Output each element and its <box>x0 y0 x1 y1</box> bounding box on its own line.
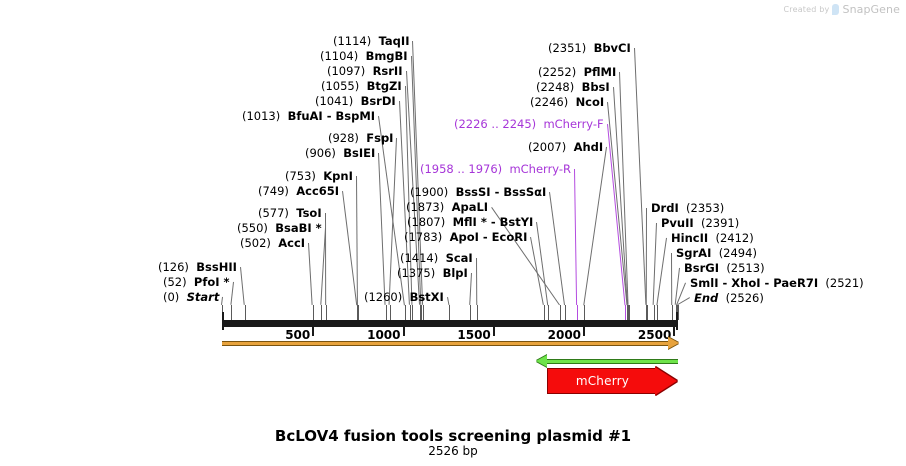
enzyme-label-start[interactable]: (0) Start <box>163 291 219 304</box>
axis-tick-mark <box>312 327 314 336</box>
enzyme-leader-line <box>230 282 234 305</box>
plasmid-size: 2526 bp <box>0 444 906 458</box>
axis-tick-label: 500 <box>285 328 310 342</box>
primer-site-tick[interactable] <box>625 305 626 320</box>
enzyme-name: TaqII <box>379 34 410 48</box>
restriction-site-tick[interactable] <box>449 305 450 320</box>
restriction-site-tick[interactable] <box>629 305 630 320</box>
enzyme-name: ApoI - EcoRI <box>450 230 528 244</box>
enzyme-name: AccI <box>278 236 305 250</box>
feature-arrow-backbone[interactable] <box>222 341 668 346</box>
axis-tick-mark <box>493 327 495 336</box>
enzyme-label-btgzi[interactable]: (1055) BtgZI <box>321 80 402 93</box>
enzyme-label-ahdi[interactable]: (2007) AhdI <box>528 141 603 154</box>
enzyme-label-acci[interactable]: (502) AccI <box>240 237 305 250</box>
enzyme-name: TsoI <box>296 206 321 220</box>
enzyme-name: BsrGI <box>684 261 719 275</box>
enzyme-name: BssSI - BssSαI <box>456 185 547 199</box>
restriction-site-tick[interactable] <box>560 305 561 320</box>
axis-tick-label: 2500 <box>638 328 671 342</box>
enzyme-label-rsrii[interactable]: (1097) RsrII <box>327 65 403 78</box>
enzyme-label-ncoi[interactable]: (2246) NcoI <box>530 96 604 109</box>
enzyme-name: Acc65I <box>296 184 339 198</box>
enzyme-name: BsaBI * <box>275 221 321 235</box>
enzyme-position: (2526) <box>726 291 764 305</box>
enzyme-leader-line <box>240 267 245 305</box>
enzyme-position: (1097) <box>327 64 365 78</box>
enzyme-position: (52) <box>163 275 187 289</box>
enzyme-leader-line <box>447 297 449 305</box>
enzyme-label-sgrai[interactable]: SgrAI (2494) <box>676 247 757 260</box>
enzyme-position: (550) <box>237 221 268 235</box>
enzyme-name: BlpI <box>443 266 468 280</box>
enzyme-name: Start <box>187 290 220 304</box>
enzyme-position: (1414) <box>400 251 438 265</box>
enzyme-leader-line <box>476 258 477 305</box>
page-title: BcLOV4 fusion tools screening plasmid #1 <box>0 427 906 445</box>
restriction-site-tick[interactable] <box>412 305 413 320</box>
enzyme-position: (906) <box>305 146 336 160</box>
restriction-site-tick[interactable] <box>477 305 478 320</box>
restriction-site-tick[interactable] <box>358 305 359 320</box>
enzyme-position: (1055) <box>321 79 359 93</box>
enzyme-position: (2494) <box>719 246 757 260</box>
enzyme-name: HincII <box>671 231 708 245</box>
restriction-site-tick[interactable] <box>410 305 411 320</box>
enzyme-position: (1114) <box>333 34 371 48</box>
enzyme-leader-line <box>653 223 657 305</box>
enzyme-name: BssHII <box>196 260 237 274</box>
snapgene-logo-icon <box>832 4 839 15</box>
primer-site-tick[interactable] <box>577 305 578 320</box>
enzyme-label-drdi[interactable]: DrdI (2353) <box>651 202 724 215</box>
restriction-site-tick[interactable] <box>654 305 655 320</box>
enzyme-name: PfoI * <box>194 275 230 289</box>
enzyme-position: (1900) <box>410 185 448 199</box>
enzyme-label-bsshii[interactable]: (126) BssHII <box>158 261 237 274</box>
restriction-site-tick[interactable] <box>386 305 387 320</box>
restriction-site-tick[interactable] <box>470 305 471 320</box>
enzyme-position: (1873) <box>406 200 444 214</box>
enzyme-leader-line <box>342 191 357 305</box>
enzyme-position: (2521) <box>825 276 863 290</box>
enzyme-label-bstxi[interactable]: (1260) BstXI <box>364 291 444 304</box>
axis-tick-label: 1000 <box>367 328 400 342</box>
feature-mcherry[interactable]: mCherry <box>547 368 658 394</box>
enzyme-label-bsssi[interactable]: (1900) BssSI - BssSαI <box>410 186 546 199</box>
restriction-site-tick[interactable] <box>672 305 673 320</box>
enzyme-label-blpi[interactable]: (1375) BlpI <box>397 267 468 280</box>
feature-arrowhead-mcherry <box>655 367 677 395</box>
enzyme-position: (2391) <box>701 216 739 230</box>
enzyme-position: (2007) <box>528 140 566 154</box>
enzyme-name: NcoI <box>576 95 605 109</box>
enzyme-position: (0) <box>163 290 179 304</box>
enzyme-name: BsIEI <box>343 146 375 160</box>
enzyme-position: (928) <box>328 131 359 145</box>
enzyme-name: mCherry-F <box>543 117 603 131</box>
enzyme-position: (2351) <box>548 41 586 55</box>
axis-tick-label: 1500 <box>457 328 490 342</box>
enzyme-position: (1041) <box>315 94 353 108</box>
enzyme-name: BbsI <box>582 80 610 94</box>
enzyme-position: (753) <box>285 169 316 183</box>
plasmid-map-canvas: Created by SnapGene (1114) TaqII(1104) B… <box>0 0 906 466</box>
restriction-site-tick[interactable] <box>405 305 406 320</box>
axis-tick-mark <box>673 327 675 336</box>
enzyme-position: (126) <box>158 260 189 274</box>
enzyme-leader-line <box>634 48 646 305</box>
enzyme-label-fspi[interactable]: (928) FspI <box>328 132 393 145</box>
enzyme-label-smli[interactable]: SmlI - XhoI - PaeR7I (2521) <box>690 277 864 290</box>
enzyme-name: SgrAI <box>676 246 711 260</box>
enzyme-name: PflMI <box>584 65 617 79</box>
axis-tick-mark <box>583 327 585 336</box>
enzyme-leader-line <box>536 222 548 305</box>
enzyme-label-apoi[interactable]: (1783) ApoI - EcoRI <box>404 231 527 244</box>
enzyme-label-kpni[interactable]: (753) KpnI <box>285 170 353 183</box>
enzyme-leader-line <box>389 138 397 305</box>
enzyme-leader-line <box>221 297 223 305</box>
enzyme-name: BbvCI <box>594 41 631 55</box>
enzyme-label-scai[interactable]: (1414) ScaI <box>400 252 473 265</box>
primer-leader-line <box>574 169 577 305</box>
restriction-site-tick[interactable] <box>326 305 327 320</box>
enzyme-name: BmgBI <box>366 49 408 63</box>
enzyme-name: ApaLI <box>452 200 489 214</box>
enzyme-name: BtgZI <box>367 79 402 93</box>
enzyme-name: AhdI <box>574 140 604 154</box>
enzyme-leader-line <box>378 153 386 305</box>
axis-tick-mark <box>403 327 405 336</box>
enzyme-label-bsrgi[interactable]: BsrGI (2513) <box>684 262 765 275</box>
enzyme-name: MflI * - BstYI <box>453 215 534 229</box>
restriction-site-tick[interactable] <box>231 305 232 320</box>
enzyme-position: (2412) <box>715 231 753 245</box>
enzyme-label-pvuii[interactable]: PvuII (2391) <box>661 217 739 230</box>
enzyme-name: DrdI <box>651 201 679 215</box>
enzyme-name: PvuII <box>661 216 694 230</box>
restriction-site-tick[interactable] <box>584 305 585 320</box>
enzyme-label-acc65i[interactable]: (749) Acc65I <box>258 185 339 198</box>
enzyme-position: (1807) <box>407 215 445 229</box>
enzyme-label-bsrdi[interactable]: (1041) BsrDI <box>315 95 396 108</box>
axis-tick-label: 2000 <box>548 328 581 342</box>
feature-arrowhead-backbone <box>668 337 679 349</box>
enzyme-position: (749) <box>258 184 289 198</box>
restriction-site-tick[interactable] <box>245 305 246 320</box>
restriction-site-tick[interactable] <box>548 305 549 320</box>
enzyme-position: (1013) <box>242 109 280 123</box>
enzyme-name: End <box>694 291 718 305</box>
enzyme-position: (2226 .. 2245) <box>454 117 536 131</box>
enzyme-position: (502) <box>240 236 271 250</box>
restriction-site-tick[interactable] <box>390 305 391 320</box>
enzyme-label-mfli[interactable]: (1807) MflI * - BstYI <box>407 216 533 229</box>
enzyme-name: BsrDI <box>361 94 396 108</box>
enzyme-position: (1958 .. 1976) <box>420 162 502 176</box>
enzyme-position: (1260) <box>364 290 402 304</box>
enzyme-label-mcherryr[interactable]: (1958 .. 1976) mCherry-R <box>420 163 571 176</box>
enzyme-name: FspI <box>366 131 393 145</box>
enzyme-label-tsoi[interactable]: (577) TsoI <box>258 207 322 220</box>
enzyme-position: (1104) <box>320 49 358 63</box>
enzyme-label-bsiei[interactable]: (906) BsIEI <box>305 147 375 160</box>
feature-arrow-mcherry-primer-span[interactable] <box>546 359 678 364</box>
restriction-site-tick[interactable] <box>657 305 658 320</box>
watermark-brand: SnapGene <box>842 3 900 16</box>
enzyme-name: BfuAI - BspMI <box>288 109 375 123</box>
enzyme-label-mcherryf[interactable]: (2226 .. 2245) mCherry-F <box>454 118 604 131</box>
restriction-site-tick[interactable] <box>321 305 322 320</box>
enzyme-label-end[interactable]: End (2526) <box>694 292 764 305</box>
enzyme-leader-line <box>549 192 565 305</box>
enzyme-position: (577) <box>258 206 289 220</box>
enzyme-name: SmlI - XhoI - PaeR7I <box>690 276 818 290</box>
enzyme-label-bmgbi[interactable]: (1104) BmgBI <box>320 50 408 63</box>
enzyme-leader-line <box>308 243 313 305</box>
enzyme-label-pfoi[interactable]: (52) PfoI * <box>163 276 230 289</box>
restriction-site-tick[interactable] <box>313 305 314 320</box>
enzyme-leader-line <box>671 253 672 305</box>
enzyme-name: BstXI <box>410 290 444 304</box>
enzyme-label-bbsi[interactable]: (2248) BbsI <box>536 81 610 94</box>
snapgene-watermark: Created by SnapGene <box>783 3 900 16</box>
restriction-site-tick[interactable] <box>544 305 545 320</box>
enzyme-leader-line <box>646 208 647 305</box>
enzyme-leader-line <box>656 238 667 305</box>
enzyme-label-apali[interactable]: (1873) ApaLI <box>406 201 488 214</box>
enzyme-name: ScaI <box>446 251 473 265</box>
feature-label-mcherry: mCherry <box>576 374 629 388</box>
enzyme-label-bsabi[interactable]: (550) BsaBI * <box>237 222 322 235</box>
enzyme-leader-line <box>469 273 472 305</box>
enzyme-label-hincii[interactable]: HincII (2412) <box>671 232 754 245</box>
restriction-site-tick[interactable] <box>423 305 424 320</box>
sequence-ruler[interactable] <box>222 320 678 327</box>
enzyme-label-pflmi[interactable]: (2252) PflMI <box>538 66 616 79</box>
enzyme-label-bbvci[interactable]: (2351) BbvCI <box>548 42 631 55</box>
ruler-start-cap <box>222 312 224 330</box>
feature-arrowhead-mcherry-primer-span <box>536 355 547 367</box>
restriction-site-tick[interactable] <box>678 305 679 320</box>
ruler-end-cap <box>676 312 678 330</box>
restriction-site-tick[interactable] <box>647 305 648 320</box>
enzyme-leader-line <box>325 213 326 305</box>
enzyme-leader-line <box>583 147 607 305</box>
enzyme-name: KpnI <box>323 169 353 183</box>
enzyme-label-taqii[interactable]: (1114) TaqII <box>333 35 409 48</box>
restriction-site-tick[interactable] <box>565 305 566 320</box>
enzyme-position: (2248) <box>536 80 574 94</box>
enzyme-leader-line <box>356 176 358 305</box>
watermark-prefix: Created by <box>783 5 829 14</box>
enzyme-name: mCherry-R <box>509 162 571 176</box>
enzyme-position: (1783) <box>404 230 442 244</box>
enzyme-name: RsrII <box>373 64 403 78</box>
enzyme-position: (2513) <box>726 261 764 275</box>
enzyme-position: (2252) <box>538 65 576 79</box>
enzyme-position: (2246) <box>530 95 568 109</box>
enzyme-position: (1375) <box>397 266 435 280</box>
enzyme-label-bfuai[interactable]: (1013) BfuAI - BspMI <box>242 110 375 123</box>
enzyme-position: (2353) <box>686 201 724 215</box>
